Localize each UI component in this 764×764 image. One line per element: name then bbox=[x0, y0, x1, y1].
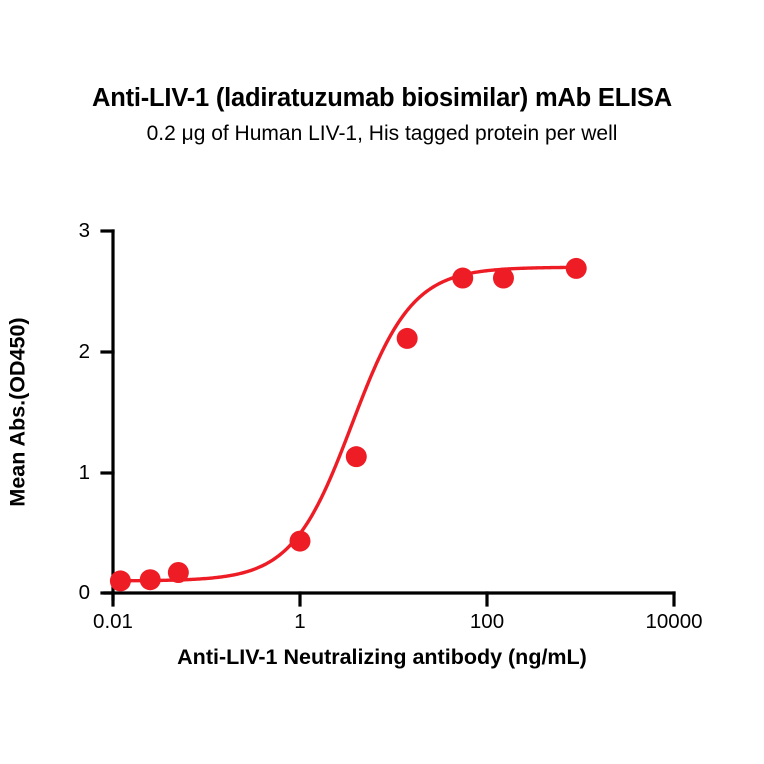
x-tick-label-1: 1 bbox=[294, 610, 305, 634]
x-axis-title: Anti-LIV-1 Neutralizing antibody (ng/mL) bbox=[0, 645, 764, 670]
data-point bbox=[290, 531, 311, 552]
y-tick-label-0: 0 bbox=[56, 581, 90, 605]
x-tick-label-100: 100 bbox=[470, 610, 504, 634]
y-axis-title: Mean Abs.(OD450) bbox=[6, 317, 31, 506]
x-tick-label-10000: 10000 bbox=[645, 610, 702, 634]
y-tick-label-3: 3 bbox=[56, 219, 90, 243]
axis-lines bbox=[105, 231, 674, 599]
x-tick-label-0.01: 0.01 bbox=[93, 610, 133, 634]
elisa-figure: Anti-LIV-1 (ladiratuzumab biosimilar) mA… bbox=[0, 0, 764, 764]
data-point bbox=[397, 328, 418, 349]
y-tick-label-2: 2 bbox=[56, 340, 90, 364]
data-point bbox=[346, 446, 367, 467]
data-point bbox=[168, 562, 189, 583]
y-axis-ticks bbox=[102, 231, 113, 593]
data-point bbox=[452, 268, 473, 289]
dose-response-curve bbox=[120, 267, 576, 580]
y-tick-label-1: 1 bbox=[56, 461, 90, 485]
data-point bbox=[493, 268, 514, 289]
data-point bbox=[566, 258, 587, 279]
data-point bbox=[140, 569, 161, 590]
x-axis-ticks bbox=[113, 593, 674, 605]
data-point bbox=[110, 570, 131, 591]
data-point-layer bbox=[110, 258, 587, 592]
